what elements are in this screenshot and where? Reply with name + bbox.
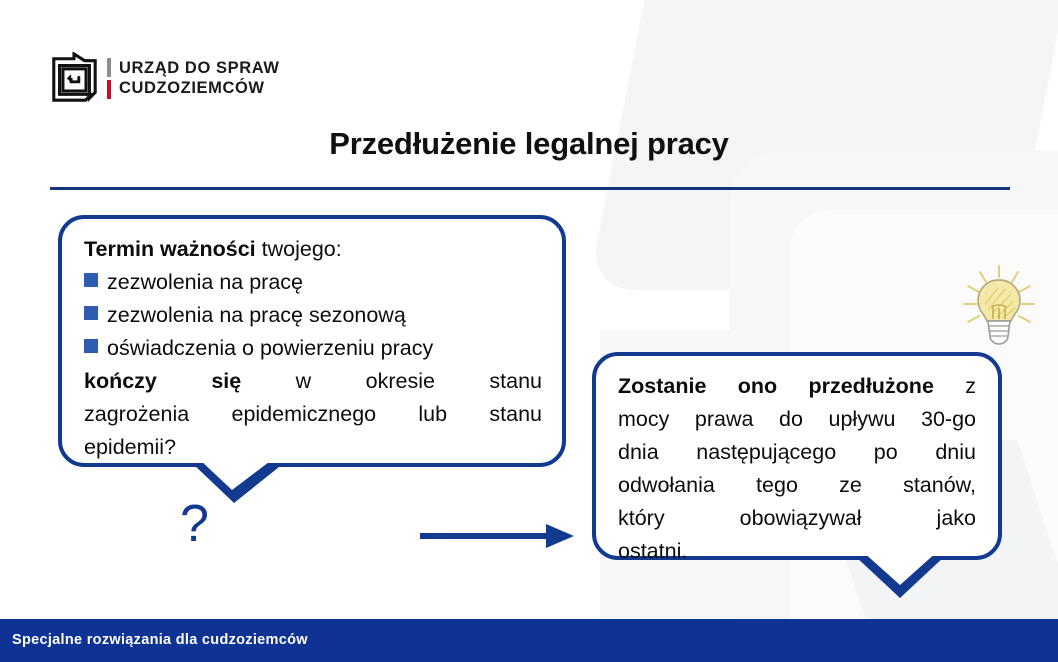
right-bubble-line-3: dnia następującego po dniu [618, 436, 976, 469]
list-item-label: oświadczenia o powierzeniu pracy [107, 332, 433, 365]
question-mark-glyph: ? [180, 498, 209, 550]
left-bubble-paragraph-line-3: epidemii? [84, 431, 542, 464]
answer-speech-bubble: Zostanie ono przedłużone z mocy prawa do… [592, 352, 1002, 560]
left-bubble-intro-bold: Termin ważności [84, 237, 256, 261]
left-bubble-paragraph-line-1: kończy się w okresie stanu [84, 365, 542, 398]
footer-bar: Specjalne rozwiązania dla cudzoziemców [0, 619, 1058, 662]
right-bubble-line-4: odwołania tego ze stanów, [618, 469, 976, 502]
right-arrow-icon [418, 520, 576, 552]
right-bubble-line-1: Zostanie ono przedłużone z [618, 370, 976, 403]
logo-accent-bars [107, 56, 111, 100]
list-item-label: zezwolenia na pracę [107, 266, 303, 299]
right-bubble-line-2: mocy prawa do upływu 30-go [618, 403, 976, 436]
logo-bar-gray [107, 58, 111, 77]
logo-bar-red [107, 80, 111, 99]
urzad-do-spraw-cudzoziemcow-mark-icon [46, 52, 102, 104]
answer-bubble-tail [855, 556, 945, 602]
question-speech-bubble: Termin ważności twojego: zezwolenia na p… [58, 215, 566, 467]
logo-text-line-2: CUDZOZIEMCÓW [119, 78, 280, 98]
lightbulb-icon [958, 262, 1040, 350]
left-bubble-intro: Termin ważności twojego: [84, 233, 542, 266]
logo-text-line-1: URZĄD DO SPRAW [119, 58, 280, 78]
list-item: oświadczenia o powierzeniu pracy [84, 332, 542, 365]
list-item: zezwolenia na pracę [84, 266, 542, 299]
right-bubble-line-5: który obowiązywał jako [618, 502, 976, 535]
left-bubble-intro-rest: twojego: [256, 237, 342, 261]
left-bubble-paragraph-bold: kończy się [84, 369, 241, 393]
left-bubble-paragraph-line-2: zagrożenia epidemicznego lub stanu [84, 398, 542, 431]
title-divider [50, 187, 1010, 190]
list-item: zezwolenia na pracę sezonową [84, 299, 542, 332]
bullet-square-icon [84, 306, 98, 320]
left-bubble-paragraph-rest: w okresie stanu [241, 369, 542, 393]
slide-canvas: URZĄD DO SPRAW CUDZOZIEMCÓW Przedłużenie… [0, 0, 1058, 662]
bullet-square-icon [84, 339, 98, 353]
right-bubble-line-1-rest: z [934, 374, 976, 398]
logo: URZĄD DO SPRAW CUDZOZIEMCÓW [46, 52, 280, 104]
list-item-label: zezwolenia na pracę sezonową [107, 299, 406, 332]
footer-label: Specjalne rozwiązania dla cudzoziemców [12, 632, 308, 648]
page-title: Przedłużenie legalnej pracy [0, 126, 1058, 162]
bullet-square-icon [84, 273, 98, 287]
right-bubble-lead-bold: Zostanie ono przedłużone [618, 374, 934, 398]
tail-fill [862, 551, 938, 585]
logo-text: URZĄD DO SPRAW CUDZOZIEMCÓW [119, 58, 280, 98]
tail-fill [199, 459, 273, 490]
